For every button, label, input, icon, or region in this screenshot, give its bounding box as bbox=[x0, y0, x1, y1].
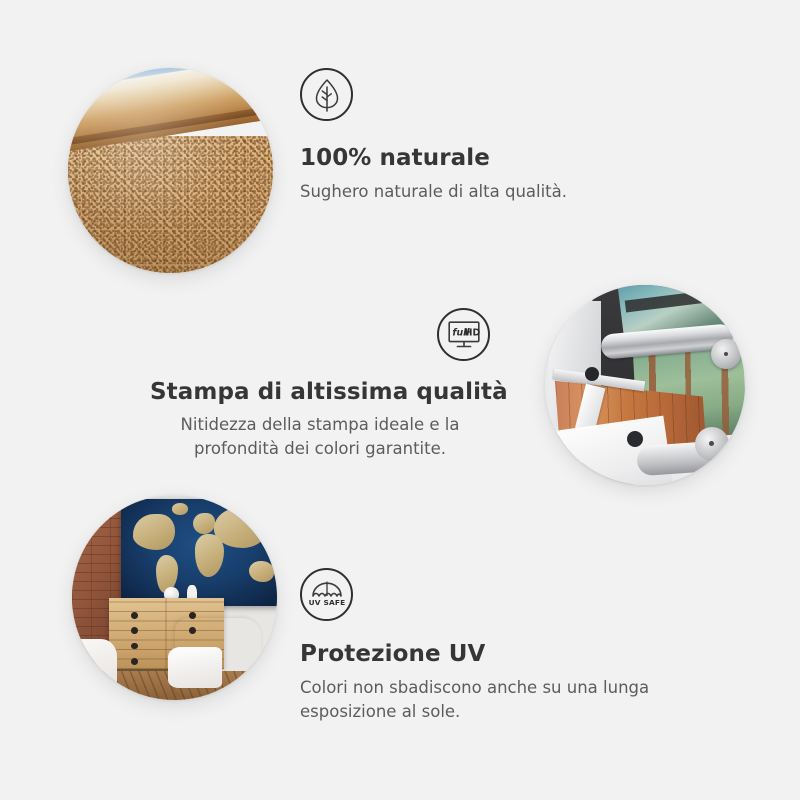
feature-title: 100% naturale bbox=[300, 145, 567, 173]
cork-texture-photo bbox=[68, 68, 273, 273]
room-world-map-photo bbox=[72, 495, 277, 700]
map-australia bbox=[249, 561, 274, 582]
printer-photo-inner bbox=[545, 285, 745, 485]
feature-description: Sughero naturale di alta qualità. bbox=[300, 180, 567, 204]
printer-knob bbox=[585, 367, 599, 381]
map-greenland bbox=[172, 503, 189, 515]
cork-shading-overlay bbox=[68, 68, 273, 273]
product-features-page: 100% naturale Sughero naturale di alta q… bbox=[0, 0, 800, 800]
feature-title: Stampa di altissima qualità bbox=[150, 379, 490, 407]
room-world-map-canvas bbox=[121, 499, 277, 606]
feature-natural: 100% naturale Sughero naturale di alta q… bbox=[300, 68, 567, 204]
feature-description: Colori non sbadiscono anche su una lunga… bbox=[300, 676, 670, 724]
room-armchair-right-seat bbox=[168, 647, 221, 688]
room-drawer-knob bbox=[131, 658, 138, 665]
uv-safe-umbrella-icon: UV SAFE bbox=[300, 568, 353, 621]
feature-title: Protezione UV bbox=[300, 641, 670, 669]
printer-bottom-knob bbox=[627, 431, 643, 447]
printer-roller-cap bbox=[711, 339, 741, 369]
cork-photo-inner bbox=[68, 68, 273, 273]
room-photo-inner bbox=[72, 495, 277, 700]
map-asia bbox=[214, 508, 269, 549]
map-europe bbox=[193, 513, 215, 534]
uv-safe-icon-text: UV SAFE bbox=[309, 597, 345, 606]
fullhd-icon-row: full HD bbox=[150, 308, 490, 361]
printing-machine-photo bbox=[545, 285, 745, 485]
fullhd-icon-text-hd: HD bbox=[464, 327, 480, 338]
map-north-america bbox=[133, 514, 175, 550]
room-armchair-left bbox=[72, 639, 117, 696]
room-drawer-knob bbox=[131, 612, 138, 619]
printer-bottom-roller-cap bbox=[695, 427, 729, 461]
leaf-icon bbox=[300, 68, 353, 121]
feature-description: Nitidezza della stampa ideale e la profo… bbox=[150, 413, 490, 461]
feature-uv-protection: UV SAFE Protezione UV Colori non sbadisc… bbox=[300, 568, 670, 723]
fullhd-monitor-icon: full HD bbox=[437, 308, 490, 361]
feature-print-quality: full HD Stampa di altissima qualità Niti… bbox=[150, 308, 490, 460]
